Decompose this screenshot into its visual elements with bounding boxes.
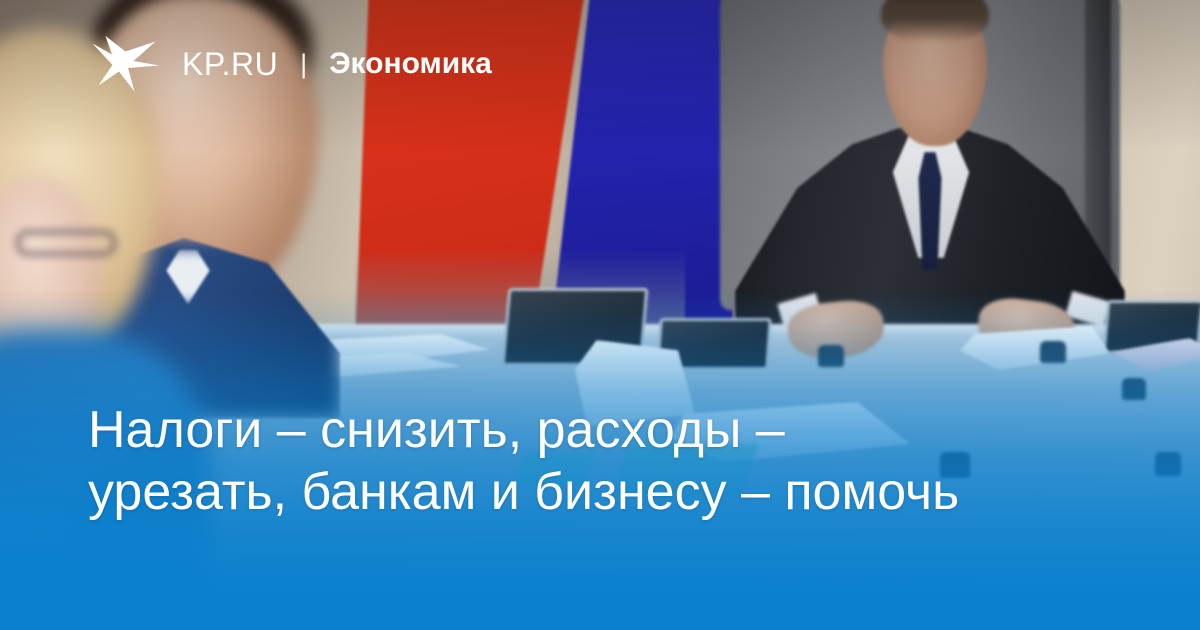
kp-ru-article-card: KP.RU | Экономика Налоги – снизить, расх… xyxy=(0,0,1200,630)
microphone-base xyxy=(1040,341,1066,363)
microphone-base xyxy=(818,345,844,367)
article-headline: Налоги – снизить, расходы – урезать, бан… xyxy=(88,399,968,523)
section-label-economy[interactable]: Экономика xyxy=(329,49,492,79)
brand-name[interactable]: KP.RU xyxy=(182,48,278,80)
swallow-bird-icon xyxy=(92,34,160,94)
microphone-base xyxy=(1122,378,1146,400)
foreground-woman-glasses xyxy=(16,230,116,256)
brand-bar: KP.RU | Экономика xyxy=(92,36,492,92)
microphone-base xyxy=(1155,452,1181,476)
brand-separator: | xyxy=(300,51,307,78)
article-background-photo xyxy=(0,0,1200,630)
official-hair xyxy=(881,0,989,42)
